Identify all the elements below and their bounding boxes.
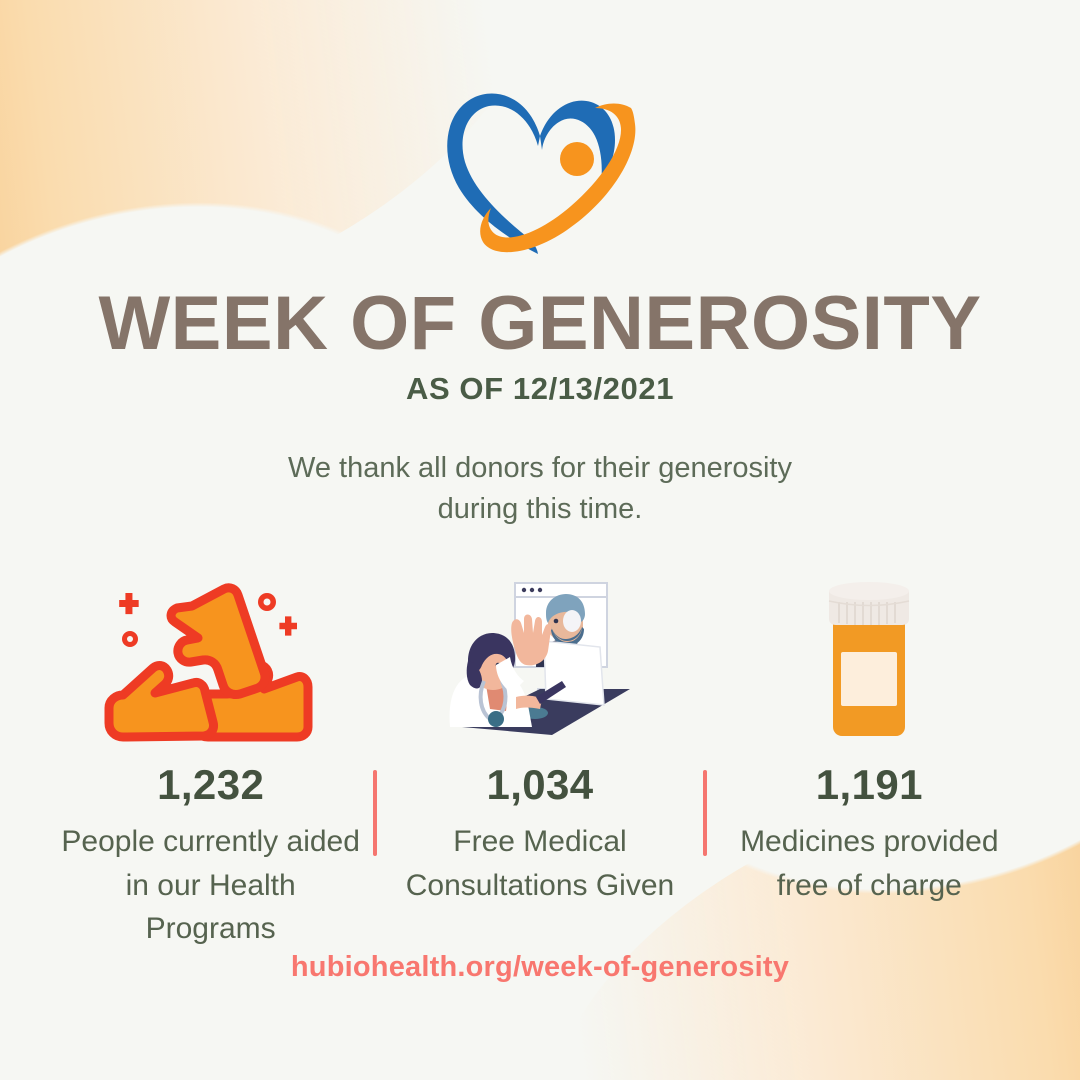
stat-value: 1,034 [486,764,593,806]
stat-label: Medicines provided free of charge [719,820,1019,907]
logo-dot-icon [560,142,594,176]
logo [0,62,1080,262]
poster-canvas: WEEK OF GENEROSITY AS OF 12/13/2021 We t… [0,0,1080,1080]
stat-item: 1,034 Free Medical Consultations Given [377,570,702,907]
stat-item: 1,191 Medicines provided free of charge [707,570,1032,907]
heart-swoosh-logo-icon [425,62,655,262]
stat-label: People currently aided in our Health Pro… [61,820,361,951]
stats-row: 1,232 People currently aided in our Heal… [48,570,1032,951]
campaign-url[interactable]: hubiohealth.org/week-of-generosity [0,953,1080,982]
stat-value: 1,191 [816,764,923,806]
stat-value: 1,232 [157,764,264,806]
stat-item: 1,232 People currently aided in our Heal… [48,570,373,951]
stat-label: Free Medical Consultations Given [390,820,690,907]
as-of-date: AS OF 12/13/2021 [0,373,1080,404]
telemedicine-consultation-icon [432,570,647,742]
pill-bottle-icon [809,570,929,742]
page-title: WEEK OF GENEROSITY [0,286,1080,362]
three-hands-teamwork-icon [103,570,318,742]
intro-text: We thank all donors for their generosity… [280,448,800,530]
